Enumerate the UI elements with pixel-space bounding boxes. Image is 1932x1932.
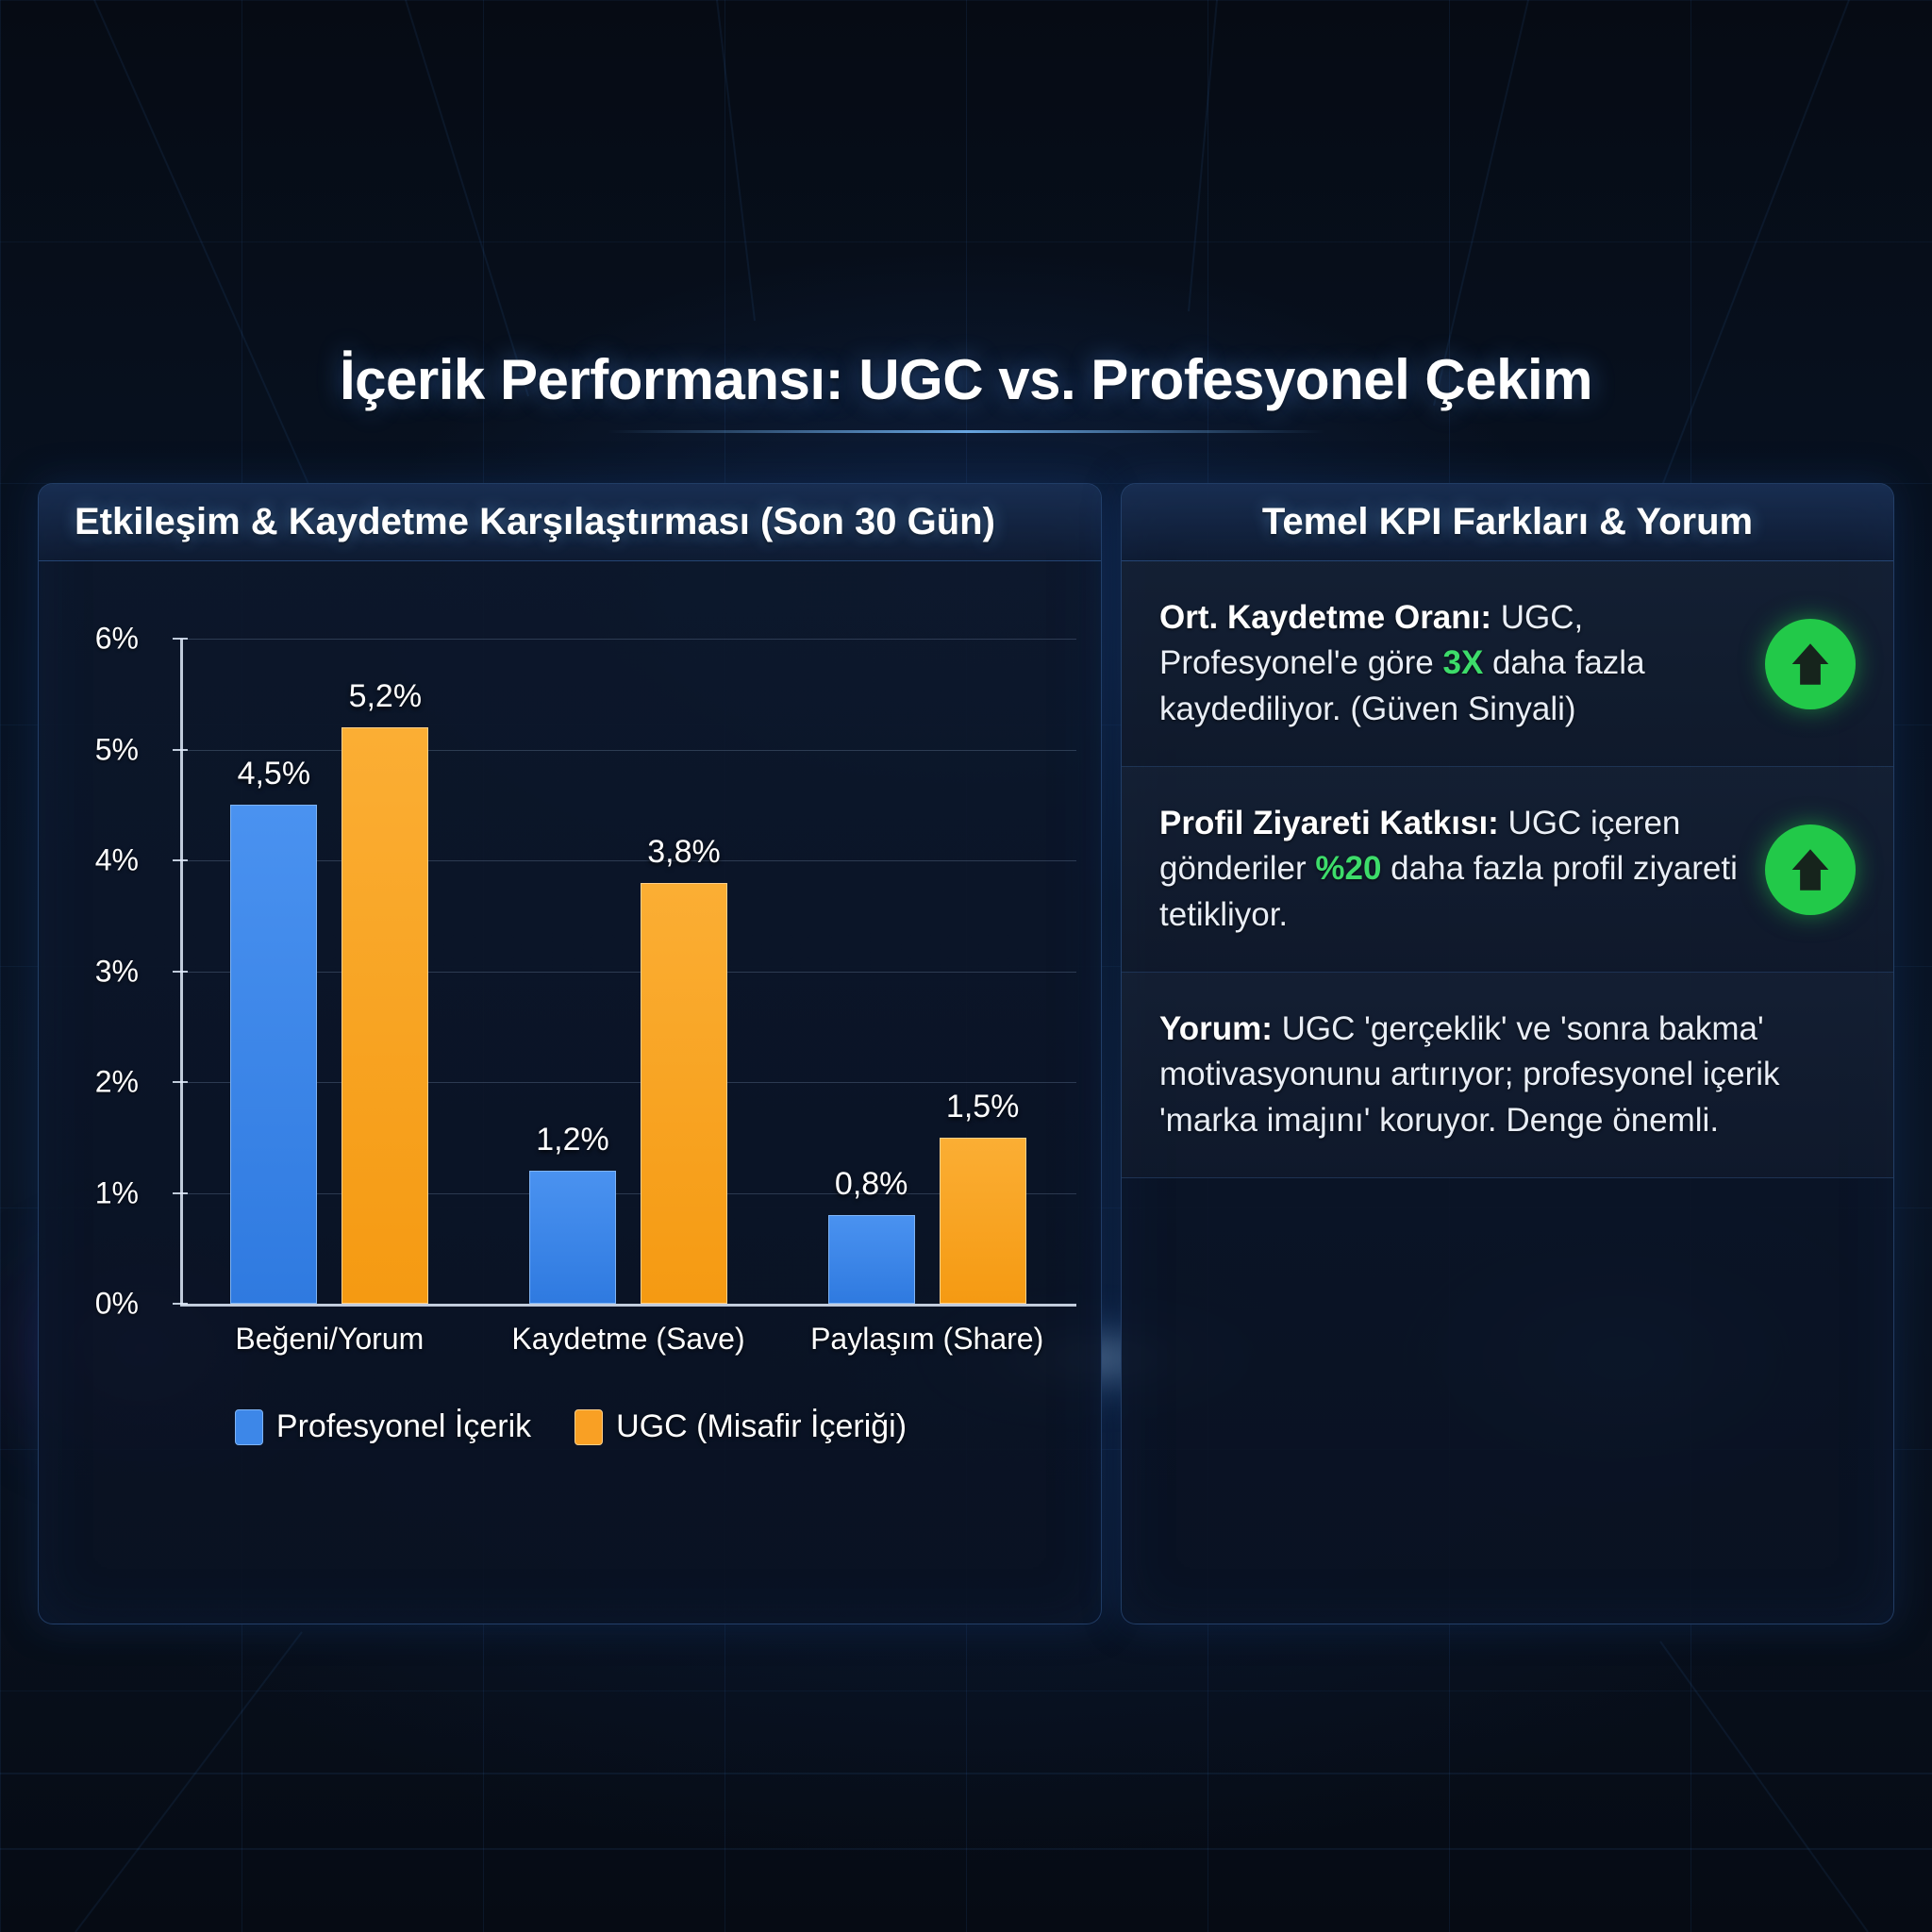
page-title: İçerik Performansı: UGC vs. Profesyonel …: [0, 347, 1932, 412]
bar-value-label: 1,2%: [536, 1122, 609, 1158]
y-tick-mark: [173, 638, 188, 640]
kpi-panel: Temel KPI Farkları & Yorum Ort. Kaydetme…: [1121, 483, 1894, 1624]
chart-legend: Profesyonel İçerikUGC (Misafir İçeriği): [39, 1408, 1102, 1445]
bar-chart: 0%1%2%3%4%5%6%4,5%5,2%Beğeni/Yorum1,2%3,…: [39, 561, 1102, 1624]
title-underline: [608, 430, 1324, 433]
arrow-up-icon: [1765, 619, 1856, 709]
x-axis-category-label: Beğeni/Yorum: [235, 1322, 424, 1357]
bar-value-label: 4,5%: [238, 756, 311, 792]
y-tick-mark: [173, 859, 188, 861]
gridline: [180, 750, 1076, 751]
chart-panel: Etkileşim & Kaydetme Karşılaştırması (So…: [38, 483, 1102, 1624]
kpi-panel-header: Temel KPI Farkları & Yorum: [1122, 484, 1893, 561]
kpi-panel-title: Temel KPI Farkları & Yorum: [1262, 501, 1753, 543]
bar-value-label: 5,2%: [349, 678, 423, 715]
x-axis-category-label: Paylaşım (Share): [810, 1322, 1043, 1357]
legend-label: Profesyonel İçerik: [276, 1408, 531, 1445]
bar-professional[interactable]: [230, 805, 317, 1304]
bar-value-label: 0,8%: [835, 1166, 908, 1203]
y-tick-mark: [173, 971, 188, 973]
y-tick-mark: [173, 749, 188, 751]
kpi-card-label: Profil Ziyareti Katkısı:: [1159, 805, 1499, 841]
kpi-card-list: Ort. Kaydetme Oranı: UGC, Profesyonel'e …: [1122, 561, 1893, 1178]
kpi-card-text: Yorum: UGC 'gerçeklik' ve 'sonra bakma' …: [1159, 1007, 1840, 1143]
y-axis-tick-label: 2%: [38, 1065, 139, 1100]
gridline: [180, 639, 1076, 640]
infographic-canvas: İçerik Performansı: UGC vs. Profesyonel …: [0, 0, 1932, 1932]
plot-area: [180, 639, 1076, 1304]
y-axis-tick-label: 4%: [38, 843, 139, 878]
bar-professional[interactable]: [529, 1171, 616, 1304]
bar-professional[interactable]: [828, 1215, 915, 1304]
y-axis-tick-label: 5%: [38, 732, 139, 767]
x-axis-category-label: Kaydetme (Save): [511, 1322, 744, 1357]
y-tick-mark: [173, 1192, 188, 1194]
bar-value-label: 1,5%: [946, 1089, 1020, 1125]
chart-panel-header: Etkileşim & Kaydetme Karşılaştırması (So…: [39, 484, 1101, 561]
kpi-card-highlight: 3X: [1442, 644, 1483, 681]
kpi-card-text: Ort. Kaydetme Oranı: UGC, Profesyonel'e …: [1159, 595, 1740, 732]
y-tick-mark: [173, 1303, 188, 1305]
y-axis-tick-label: 6%: [38, 622, 139, 657]
kpi-card-highlight: %20: [1315, 850, 1381, 887]
kpi-card: Ort. Kaydetme Oranı: UGC, Profesyonel'e …: [1122, 561, 1893, 767]
legend-swatch-icon: [575, 1409, 603, 1445]
x-axis: [180, 1304, 1076, 1307]
bar-value-label: 3,8%: [647, 834, 721, 871]
kpi-card-text: Profil Ziyareti Katkısı: UGC içeren gönd…: [1159, 801, 1740, 938]
bar-ugc[interactable]: [341, 727, 428, 1304]
y-axis-tick-label: 1%: [38, 1175, 139, 1210]
kpi-card-label: Yorum:: [1159, 1010, 1273, 1047]
y-axis-tick-label: 0%: [38, 1287, 139, 1322]
legend-swatch-icon: [235, 1409, 263, 1445]
bar-ugc[interactable]: [641, 883, 727, 1305]
bar-ugc[interactable]: [940, 1138, 1026, 1304]
y-tick-mark: [173, 1081, 188, 1083]
legend-label: UGC (Misafir İçeriği): [616, 1408, 907, 1445]
legend-item[interactable]: Profesyonel İçerik: [235, 1408, 531, 1445]
kpi-card: Profil Ziyareti Katkısı: UGC içeren gönd…: [1122, 767, 1893, 973]
y-axis-tick-label: 3%: [38, 954, 139, 989]
arrow-up-icon: [1765, 824, 1856, 915]
legend-item[interactable]: UGC (Misafir İçeriği): [575, 1408, 907, 1445]
kpi-card-label: Ort. Kaydetme Oranı:: [1159, 599, 1491, 636]
kpi-card: Yorum: UGC 'gerçeklik' ve 'sonra bakma' …: [1122, 973, 1893, 1178]
chart-panel-title: Etkileşim & Kaydetme Karşılaştırması (So…: [75, 501, 995, 543]
